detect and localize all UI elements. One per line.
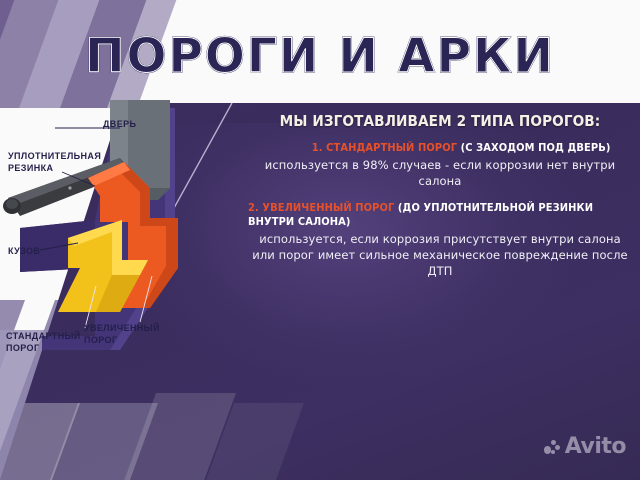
label-enlarged-sill: УВЕЛИЧЕННЫЙ ПОРОГ xyxy=(84,322,146,346)
label-sealing-rubber: УПЛОТНИТЕЛЬНАЯ РЕЗИНКА xyxy=(8,150,103,174)
page-title: ПОРОГИ И АРКИ xyxy=(0,30,640,84)
sill-type-item-1: 1. СТАНДАРТНЫЙ ПОРОГ (С ЗАХОДОМ ПОД ДВЕР… xyxy=(248,141,632,189)
item-2-body: используется, если коррозия присутствует… xyxy=(248,231,632,279)
avito-dots-logo-icon xyxy=(544,440,561,455)
label-standard-sill: СТАНДАРТНЫЙ ПОРОГ xyxy=(6,330,76,354)
avito-wordmark: Avito xyxy=(565,436,626,458)
item-1-accent-title: СТАНДАРТНЫЙ ПОРОГ xyxy=(326,141,457,154)
avito-watermark: Avito xyxy=(544,436,626,458)
item-2-heading: 2. УВЕЛИЧЕННЫЙ ПОРОГ (ДО УПЛОТНИТЕЛЬНОЙ … xyxy=(248,201,632,229)
item-1-number: 1. xyxy=(312,141,323,154)
item-1-parenthetical: (С ЗАХОДОМ ПОД ДВЕРЬ) xyxy=(461,141,611,154)
poster-canvas: ПОРОГИ И АРКИ ПОРОГИ И АРКИ xyxy=(0,0,640,480)
item-1-body: используется в 98% случаев - если корроз… xyxy=(248,157,632,189)
label-car-body: КУЗОВ xyxy=(8,245,40,257)
item-2-accent-title: УВЕЛИЧЕННЫЙ ПОРОГ xyxy=(262,201,394,214)
sill-cross-section-diagram xyxy=(0,100,250,360)
sill-type-item-2: 2. УВЕЛИЧЕННЫЙ ПОРОГ (ДО УПЛОТНИТЕЛЬНОЙ … xyxy=(248,201,632,279)
page-title-text: ПОРОГИ И АРКИ xyxy=(85,30,555,84)
item-2-number: 2. xyxy=(248,201,259,214)
item-1-heading: 1. СТАНДАРТНЫЙ ПОРОГ (С ЗАХОДОМ ПОД ДВЕР… xyxy=(269,141,640,155)
label-door: ДВЕРЬ xyxy=(103,118,136,130)
info-text-block: МЫ ИЗГОТАВЛИВАЕМ 2 ТИПА ПОРОГОВ: 1. СТАН… xyxy=(248,112,632,291)
panel-heading: МЫ ИЗГОТАВЛИВАЕМ 2 ТИПА ПОРОГОВ: xyxy=(271,112,609,130)
